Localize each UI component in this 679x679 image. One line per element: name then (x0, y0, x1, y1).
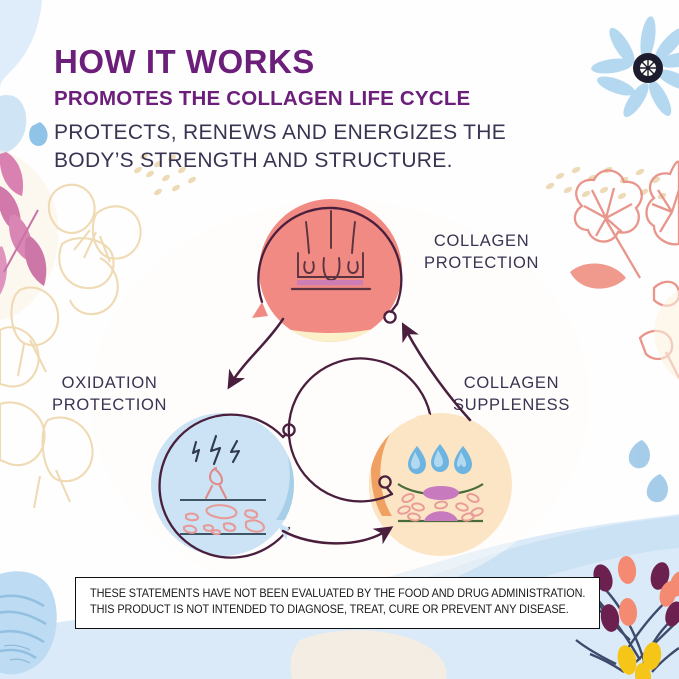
collagen-suppleness-accent (368, 412, 408, 516)
collagen-protection-node-dot (384, 311, 395, 322)
oxidation-protection-arc (160, 415, 289, 558)
collagen-suppleness-circle (369, 413, 512, 556)
blue-teardrop-accent (29, 122, 48, 146)
label-collagen-suppleness: COLLAGEN SUPPLENESS (453, 372, 570, 417)
description-line-1: PROTECTS, RENEWS AND ENERGIZES THE (54, 119, 594, 147)
coral-poppy-flowers-icon (570, 162, 679, 378)
arrow-oxidation-to-suppleness (283, 531, 386, 543)
arrow-protection-to-oxidation (232, 319, 283, 382)
dermis-band (297, 280, 363, 285)
water-droplet-skin-icon (397, 444, 484, 522)
hair-follicle-icon (292, 211, 370, 289)
node-collagen-protection[interactable] (252, 199, 412, 347)
label-collagen-protection: COLLAGEN PROTECTION (424, 230, 539, 275)
collagen-protection-circle (259, 199, 402, 342)
blue-corner-blob (0, 0, 42, 88)
label-collagen-suppleness-line2: SUPPLENESS (453, 394, 570, 416)
wrinkle-surface (398, 484, 483, 495)
blue-leaf-blob-icon (0, 571, 57, 674)
blue-daisy-flower-icon (590, 15, 679, 120)
disclaimer-line-1: THESE STATEMENTS HAVE NOT BEEN EVALUATED… (90, 586, 557, 602)
fda-disclaimer-box: THESE STATEMENTS HAVE NOT BEEN EVALUATED… (75, 577, 600, 629)
page-subtitle: PROMOTES THE COLLAGEN LIFE CYCLE (54, 87, 594, 112)
page-title: HOW IT WORKS (54, 44, 594, 80)
label-collagen-protection-line2: PROTECTION (424, 252, 539, 274)
oxidation-protection-node-dot (283, 424, 294, 435)
blue-droplet-accents (629, 440, 668, 502)
collagen-protection-arc (258, 208, 401, 304)
peach-bottom-blob (290, 630, 446, 679)
label-oxidation-protection: OXIDATION PROTECTION (52, 372, 167, 417)
pink-leaf-sprig-icon (0, 152, 46, 298)
collagen-protection-accent (252, 314, 412, 347)
oxidation-protection-circle (151, 413, 294, 556)
label-collagen-suppleness-line1: COLLAGEN (453, 372, 570, 394)
water-droplets (408, 444, 472, 474)
collagen-suppleness-arc (289, 358, 430, 501)
collagen-suppleness-node-dot (379, 476, 390, 487)
label-collagen-protection-line1: COLLAGEN (424, 230, 539, 252)
lightning-dna-icon (180, 436, 266, 534)
oxidation-protection-accent (258, 412, 301, 520)
infographic-canvas: HOW IT WORKS PROMOTES THE COLLAGEN LIFE … (0, 0, 679, 679)
node-oxidation-protection[interactable] (151, 412, 301, 558)
blue-corner-blob-2 (0, 95, 26, 154)
cream-wash-right (654, 290, 679, 380)
description-line-2: BODY’S STRENGTH AND STRUCTURE. (54, 147, 594, 175)
berry-yellow (615, 641, 664, 679)
disclaimer-line-2: THIS PRODUCT IS NOT INTENDED TO DIAGNOSE… (90, 602, 557, 618)
cream-wash-left (0, 150, 59, 320)
berry-purple (590, 560, 679, 633)
label-oxidation-protection-line1: OXIDATION (52, 372, 167, 394)
tan-flower-outline-icon (0, 185, 141, 508)
page-description: PROTECTS, RENEWS AND ENERGIZES THE BODY’… (54, 119, 594, 175)
label-oxidation-protection-line2: PROTECTION (52, 394, 167, 416)
headline-block: HOW IT WORKS PROMOTES THE COLLAGEN LIFE … (54, 44, 594, 175)
